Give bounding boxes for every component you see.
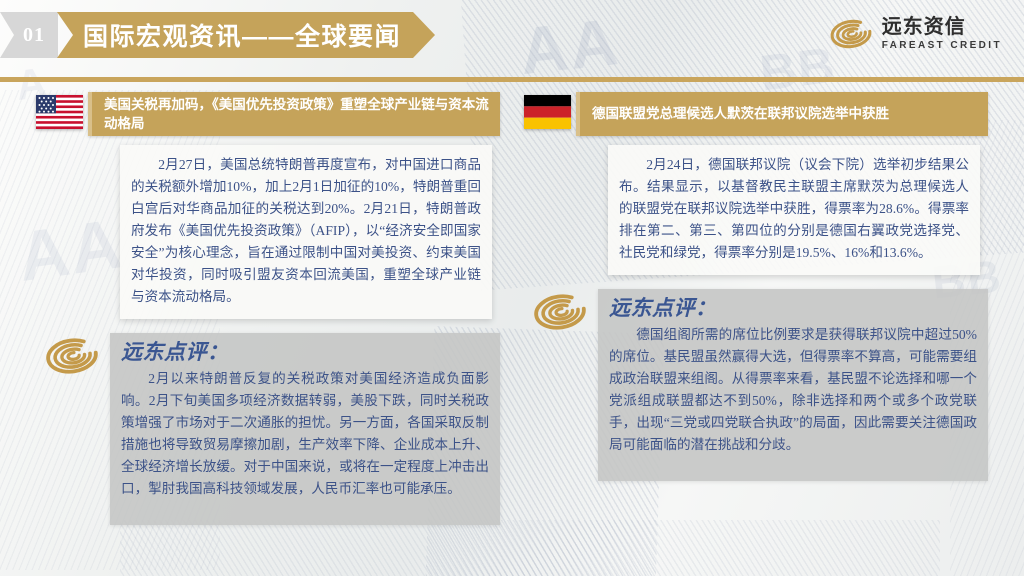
headline-bar: 美国关税再加码，《美国优先投资政策》重塑全球产业链与资本流动格局 bbox=[88, 92, 500, 136]
commentary-card: 远东点评： 2月以来特朗普反复的关税政策对美国经济造成负面影响。2月下旬美国多项… bbox=[110, 333, 500, 525]
fareast-spiral-emblem-icon bbox=[829, 17, 873, 51]
headline-text: 美国关税再加码，《美国优先投资政策》重塑全球产业链与资本流动格局 bbox=[104, 95, 492, 133]
section-title-band: 国际宏观资讯——全球要闻 bbox=[57, 12, 435, 58]
page-header: 01 国际宏观资讯——全球要闻 bbox=[0, 12, 435, 58]
headline-text: 德国联盟党总理候选人默茨在联邦议院选举中获胜 bbox=[592, 104, 889, 123]
commentary-section: 远东点评： 德国组阁所需的席位比例要求是获得联邦议院中超过50%的席位。基民盟虽… bbox=[524, 289, 988, 481]
bg-stripe-texture-bottom bbox=[120, 520, 940, 576]
news-body-text: 2月24日，德国联邦议院（议会下院）选举初步结果公布。结果显示，以基督教民主联盟… bbox=[619, 154, 969, 264]
brand-logo: 远东资信 FAREAST CREDIT bbox=[829, 17, 1002, 51]
commentary-title: 远东点评： bbox=[121, 339, 489, 365]
news-column-germany: 德国联盟党总理候选人默茨在联邦议院选举中获胜 2月24日，德国联邦议院（议会下院… bbox=[524, 92, 988, 481]
commentary-section: 远东点评： 2月以来特朗普反复的关税政策对美国经济造成负面影响。2月下旬美国多项… bbox=[36, 333, 500, 525]
fareast-spiral-emblem-icon bbox=[44, 335, 100, 377]
news-body-text: 2月27日，美国总统特朗普再度宣布，对中国进口商品的关税额外增加10%，加上2月… bbox=[131, 154, 481, 308]
commentary-body-text: 德国组阁所需的席位比例要求是获得联邦议院中超过50%的席位。基民盟虽然赢得大选，… bbox=[609, 324, 977, 456]
news-body-card: 2月24日，德国联邦议院（议会下院）选举初步结果公布。结果显示，以基督教民主联盟… bbox=[608, 145, 980, 275]
fareast-spiral-emblem-icon bbox=[532, 291, 588, 333]
brand-text: 远东资信 FAREAST CREDIT bbox=[882, 17, 1002, 51]
page-title: 国际宏观资讯——全球要闻 bbox=[83, 17, 401, 53]
section-number: 01 bbox=[13, 24, 45, 47]
flag-usa-icon bbox=[36, 95, 83, 129]
brand-name-cn: 远东资信 bbox=[882, 17, 1002, 37]
commentary-card: 远东点评： 德国组阁所需的席位比例要求是获得联邦议院中超过50%的席位。基民盟虽… bbox=[598, 289, 988, 481]
headline-row: 德国联盟党总理候选人默茨在联邦议院选举中获胜 bbox=[524, 92, 988, 136]
headline-bar: 德国联盟党总理候选人默茨在联邦议院选举中获胜 bbox=[576, 92, 988, 136]
commentary-title: 远东点评： bbox=[609, 295, 977, 321]
brand-name-en: FAREAST CREDIT bbox=[882, 41, 1002, 51]
news-column-usa: 美国关税再加码，《美国优先投资政策》重塑全球产业链与资本流动格局 2月27日，美… bbox=[36, 92, 500, 525]
headline-row: 美国关税再加码，《美国优先投资政策》重塑全球产业链与资本流动格局 bbox=[36, 92, 500, 136]
commentary-body-text: 2月以来特朗普反复的关税政策对美国经济造成负面影响。2月下旬美国多项经济数据转弱… bbox=[121, 368, 489, 500]
header-divider-rule bbox=[0, 77, 1024, 82]
news-body-card: 2月27日，美国总统特朗普再度宣布，对中国进口商品的关税额外增加10%，加上2月… bbox=[120, 145, 492, 319]
section-number-badge: 01 bbox=[0, 12, 58, 58]
flag-germany-icon bbox=[524, 95, 571, 129]
